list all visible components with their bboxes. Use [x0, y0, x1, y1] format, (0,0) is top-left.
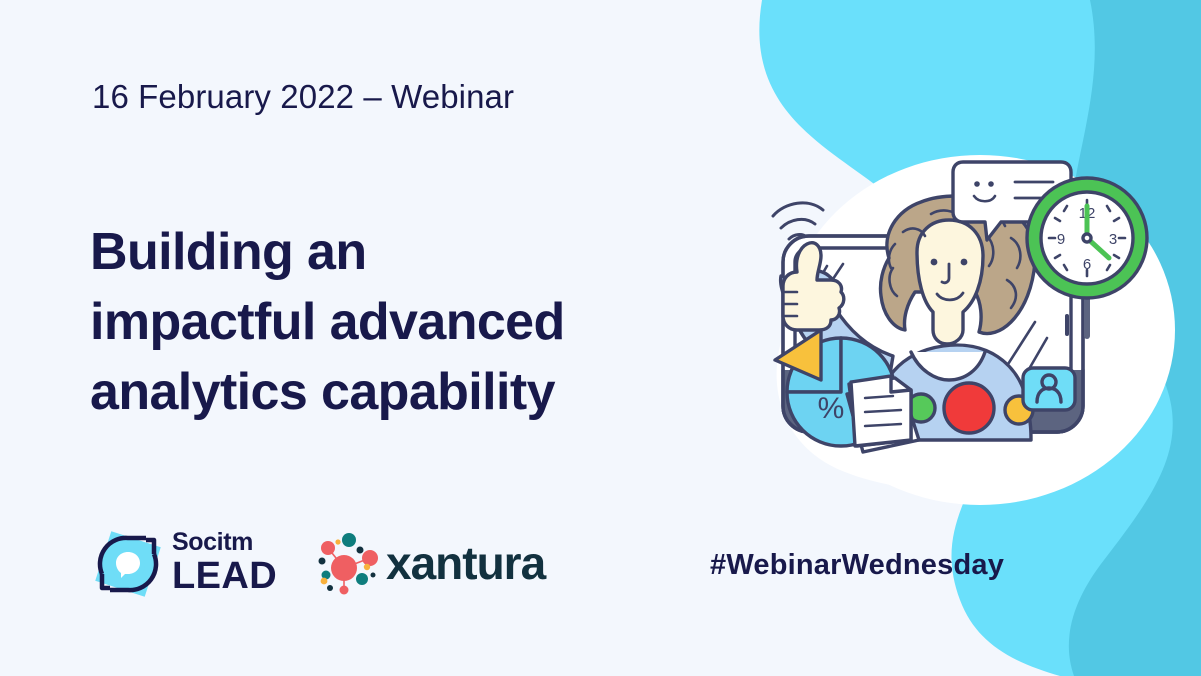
- wifi-signal-icon: [773, 203, 823, 239]
- headline-line-3: analytics capability: [90, 357, 730, 427]
- svg-text:3: 3: [1109, 231, 1117, 248]
- xantura-network-node-mark: [310, 528, 382, 600]
- headline-line-1: Building an: [90, 217, 730, 287]
- headline-line-2: impactful advanced: [90, 287, 730, 357]
- svg-text:6: 6: [1083, 256, 1091, 273]
- event-date-label: 16 February 2022 – Webinar: [92, 78, 514, 116]
- banner-canvas: 12 3 6 9 %: [0, 0, 1201, 676]
- user-avatar-tile: [1023, 368, 1075, 410]
- page-title: Building an impactful advanced analytics…: [90, 217, 730, 427]
- hashtag-label: #WebinarWednesday: [710, 549, 1004, 582]
- webinar-illustration: 12 3 6 9 %: [735, 140, 1165, 510]
- xantura-logo[interactable]: xantura: [310, 528, 540, 604]
- svg-text:%: %: [818, 392, 845, 425]
- socitm-word-line-2: LEAD: [172, 557, 277, 595]
- svg-text:9: 9: [1057, 231, 1065, 248]
- socitm-speech-bubble-mark: [88, 524, 168, 604]
- xantura-wordmark: xantura: [386, 540, 545, 586]
- socitm-lead-wordmark: Socitm LEAD: [172, 530, 277, 595]
- socitm-lead-logo[interactable]: Socitm LEAD: [88, 524, 268, 610]
- document-pages: [847, 376, 919, 452]
- socitm-word-line-1: Socitm: [172, 530, 277, 555]
